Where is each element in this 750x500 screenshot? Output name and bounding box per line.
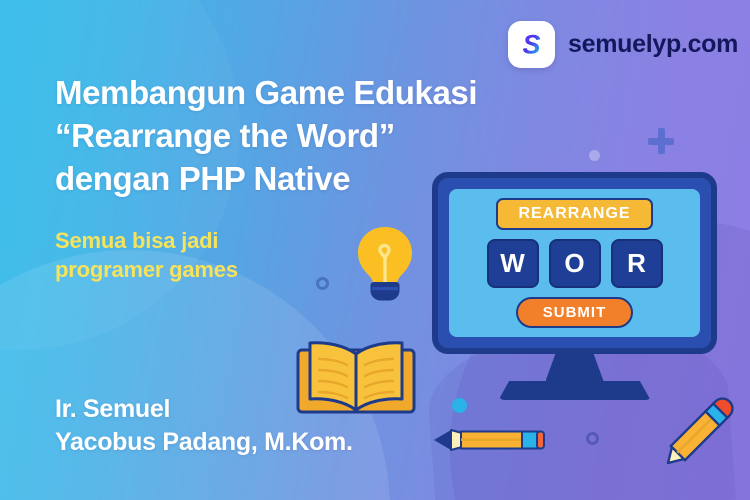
monitor-stand-neck xyxy=(546,354,604,381)
letter-tile[interactable]: O xyxy=(549,239,601,288)
letter-tile[interactable]: R xyxy=(611,239,663,288)
pencil-icon xyxy=(648,385,746,483)
desktop-monitor-icon: REARRANGE W O R SUBMIT xyxy=(432,172,717,400)
tagline: Semua bisa jadi programer games xyxy=(55,226,238,284)
tagline-line-1: Semua bisa jadi xyxy=(55,226,238,255)
pencil-icon xyxy=(432,426,546,454)
headline-line-1: Membangun Game Edukasi xyxy=(55,72,595,115)
svg-text:S: S xyxy=(522,30,540,60)
circle-outline-decoration-icon xyxy=(586,432,599,445)
rearrange-button[interactable]: REARRANGE xyxy=(496,198,652,230)
author-line-2: Yacobus Padang, M.Kom. xyxy=(55,426,353,459)
promo-banner: S semuelyp.com Membangun Game Edukasi “R… xyxy=(0,0,750,500)
tagline-line-2: programer games xyxy=(55,255,238,284)
brand-logo[interactable]: S semuelyp.com xyxy=(508,21,738,68)
letter-tile-row: W O R xyxy=(487,239,663,288)
submit-button[interactable]: SUBMIT xyxy=(516,297,634,328)
plus-decoration-icon xyxy=(648,128,674,154)
dot-decoration-icon xyxy=(452,398,467,413)
circle-outline-decoration-icon xyxy=(316,277,329,290)
monitor-screen: REARRANGE W O R SUBMIT xyxy=(449,189,700,337)
monitor-bezel: REARRANGE W O R SUBMIT xyxy=(432,172,717,354)
lightbulb-icon xyxy=(352,225,418,307)
letter-tile[interactable]: W xyxy=(487,239,539,288)
brand-name-text: semuelyp.com xyxy=(568,30,738,59)
semuelyp-s-logo-icon: S xyxy=(508,21,555,68)
monitor-stand-base xyxy=(499,381,651,400)
headline-line-2: “Rearrange the Word” xyxy=(55,115,595,158)
open-book-icon xyxy=(294,330,418,422)
